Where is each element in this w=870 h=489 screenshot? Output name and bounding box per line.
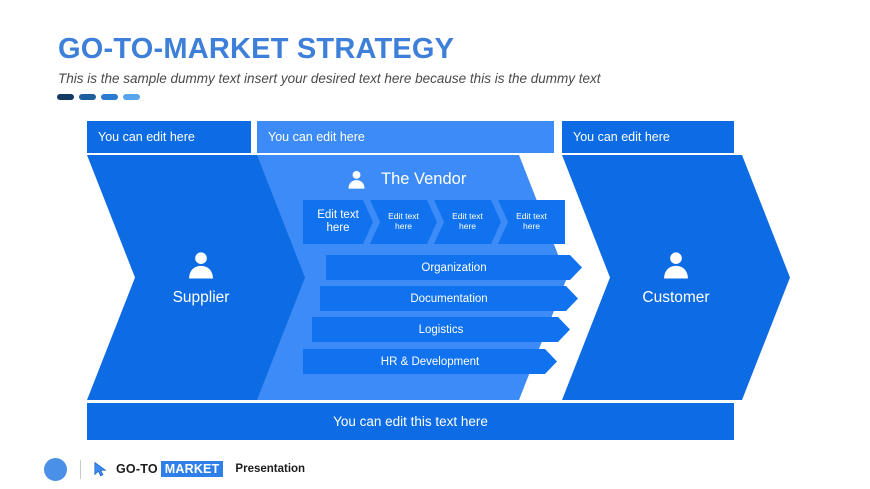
top-label-supplier[interactable]: You can edit here — [87, 121, 251, 153]
step-line2: here — [395, 221, 412, 231]
vendor-row-organization[interactable]: Organization — [326, 255, 582, 280]
dash-4 — [123, 94, 140, 100]
footer-divider — [80, 460, 81, 479]
vendor-step-4[interactable]: Edit texthere — [498, 200, 565, 244]
top-label-customer[interactable]: You can edit here — [562, 121, 734, 153]
vendor-step-strip: Edit texthere Edit texthere Edit texther… — [303, 200, 574, 244]
decorative-dashes — [57, 94, 140, 100]
row-label: Organization — [421, 262, 486, 274]
step-line1: Edit text — [388, 211, 419, 221]
cursor-arrow-icon — [92, 461, 109, 478]
step-line2: here — [459, 221, 476, 231]
step-line2: here — [326, 222, 349, 234]
dash-2 — [79, 94, 96, 100]
person-icon — [345, 168, 368, 191]
vendor-step-2[interactable]: Edit texthere — [370, 200, 437, 244]
bottom-bar-text: You can edit this text here — [333, 414, 488, 429]
row-label: HR & Development — [381, 356, 479, 368]
footer-logo-dot — [44, 458, 67, 481]
bottom-editable-bar[interactable]: You can edit this text here — [87, 403, 734, 440]
vendor-label: The Vendor — [381, 170, 466, 189]
dash-3 — [101, 94, 118, 100]
step-line1: Edit text — [317, 209, 359, 221]
top-label-text: You can edit here — [98, 130, 195, 144]
step-line2: here — [523, 221, 540, 231]
page-subtitle: This is the sample dummy text insert you… — [58, 71, 600, 86]
vendor-row-logistics[interactable]: Logistics — [312, 317, 570, 342]
vendor-step-3[interactable]: Edit texthere — [434, 200, 501, 244]
row-label: Logistics — [419, 324, 464, 336]
footer-subtitle: Presentation — [235, 463, 305, 475]
footer: GO-TOMARKET Presentation — [44, 452, 305, 486]
step-line1: Edit text — [516, 211, 547, 221]
person-icon — [659, 248, 693, 282]
dash-1 — [57, 94, 74, 100]
top-label-text: You can edit here — [268, 130, 365, 144]
row-label: Documentation — [410, 293, 487, 305]
slide-canvas: GO-TO-MARKET STRATEGY This is the sample… — [0, 0, 870, 489]
page-title: GO-TO-MARKET STRATEGY — [58, 33, 454, 66]
top-label-text: You can edit here — [573, 130, 670, 144]
top-label-vendor[interactable]: You can edit here — [257, 121, 554, 153]
brand-name: GO-TOMARKET — [116, 462, 223, 476]
customer-chevron[interactable]: Customer — [562, 155, 790, 400]
brand-part-1: GO-TO — [116, 462, 158, 476]
vendor-row-documentation[interactable]: Documentation — [320, 286, 578, 311]
person-icon — [184, 248, 218, 282]
brand-part-2: MARKET — [161, 461, 224, 477]
vendor-header: The Vendor — [345, 168, 466, 191]
vendor-row-hr-development[interactable]: HR & Development — [303, 349, 557, 374]
vendor-step-1[interactable]: Edit texthere — [303, 200, 373, 244]
customer-label: Customer — [642, 289, 709, 307]
step-line1: Edit text — [452, 211, 483, 221]
supplier-label: Supplier — [173, 289, 230, 307]
